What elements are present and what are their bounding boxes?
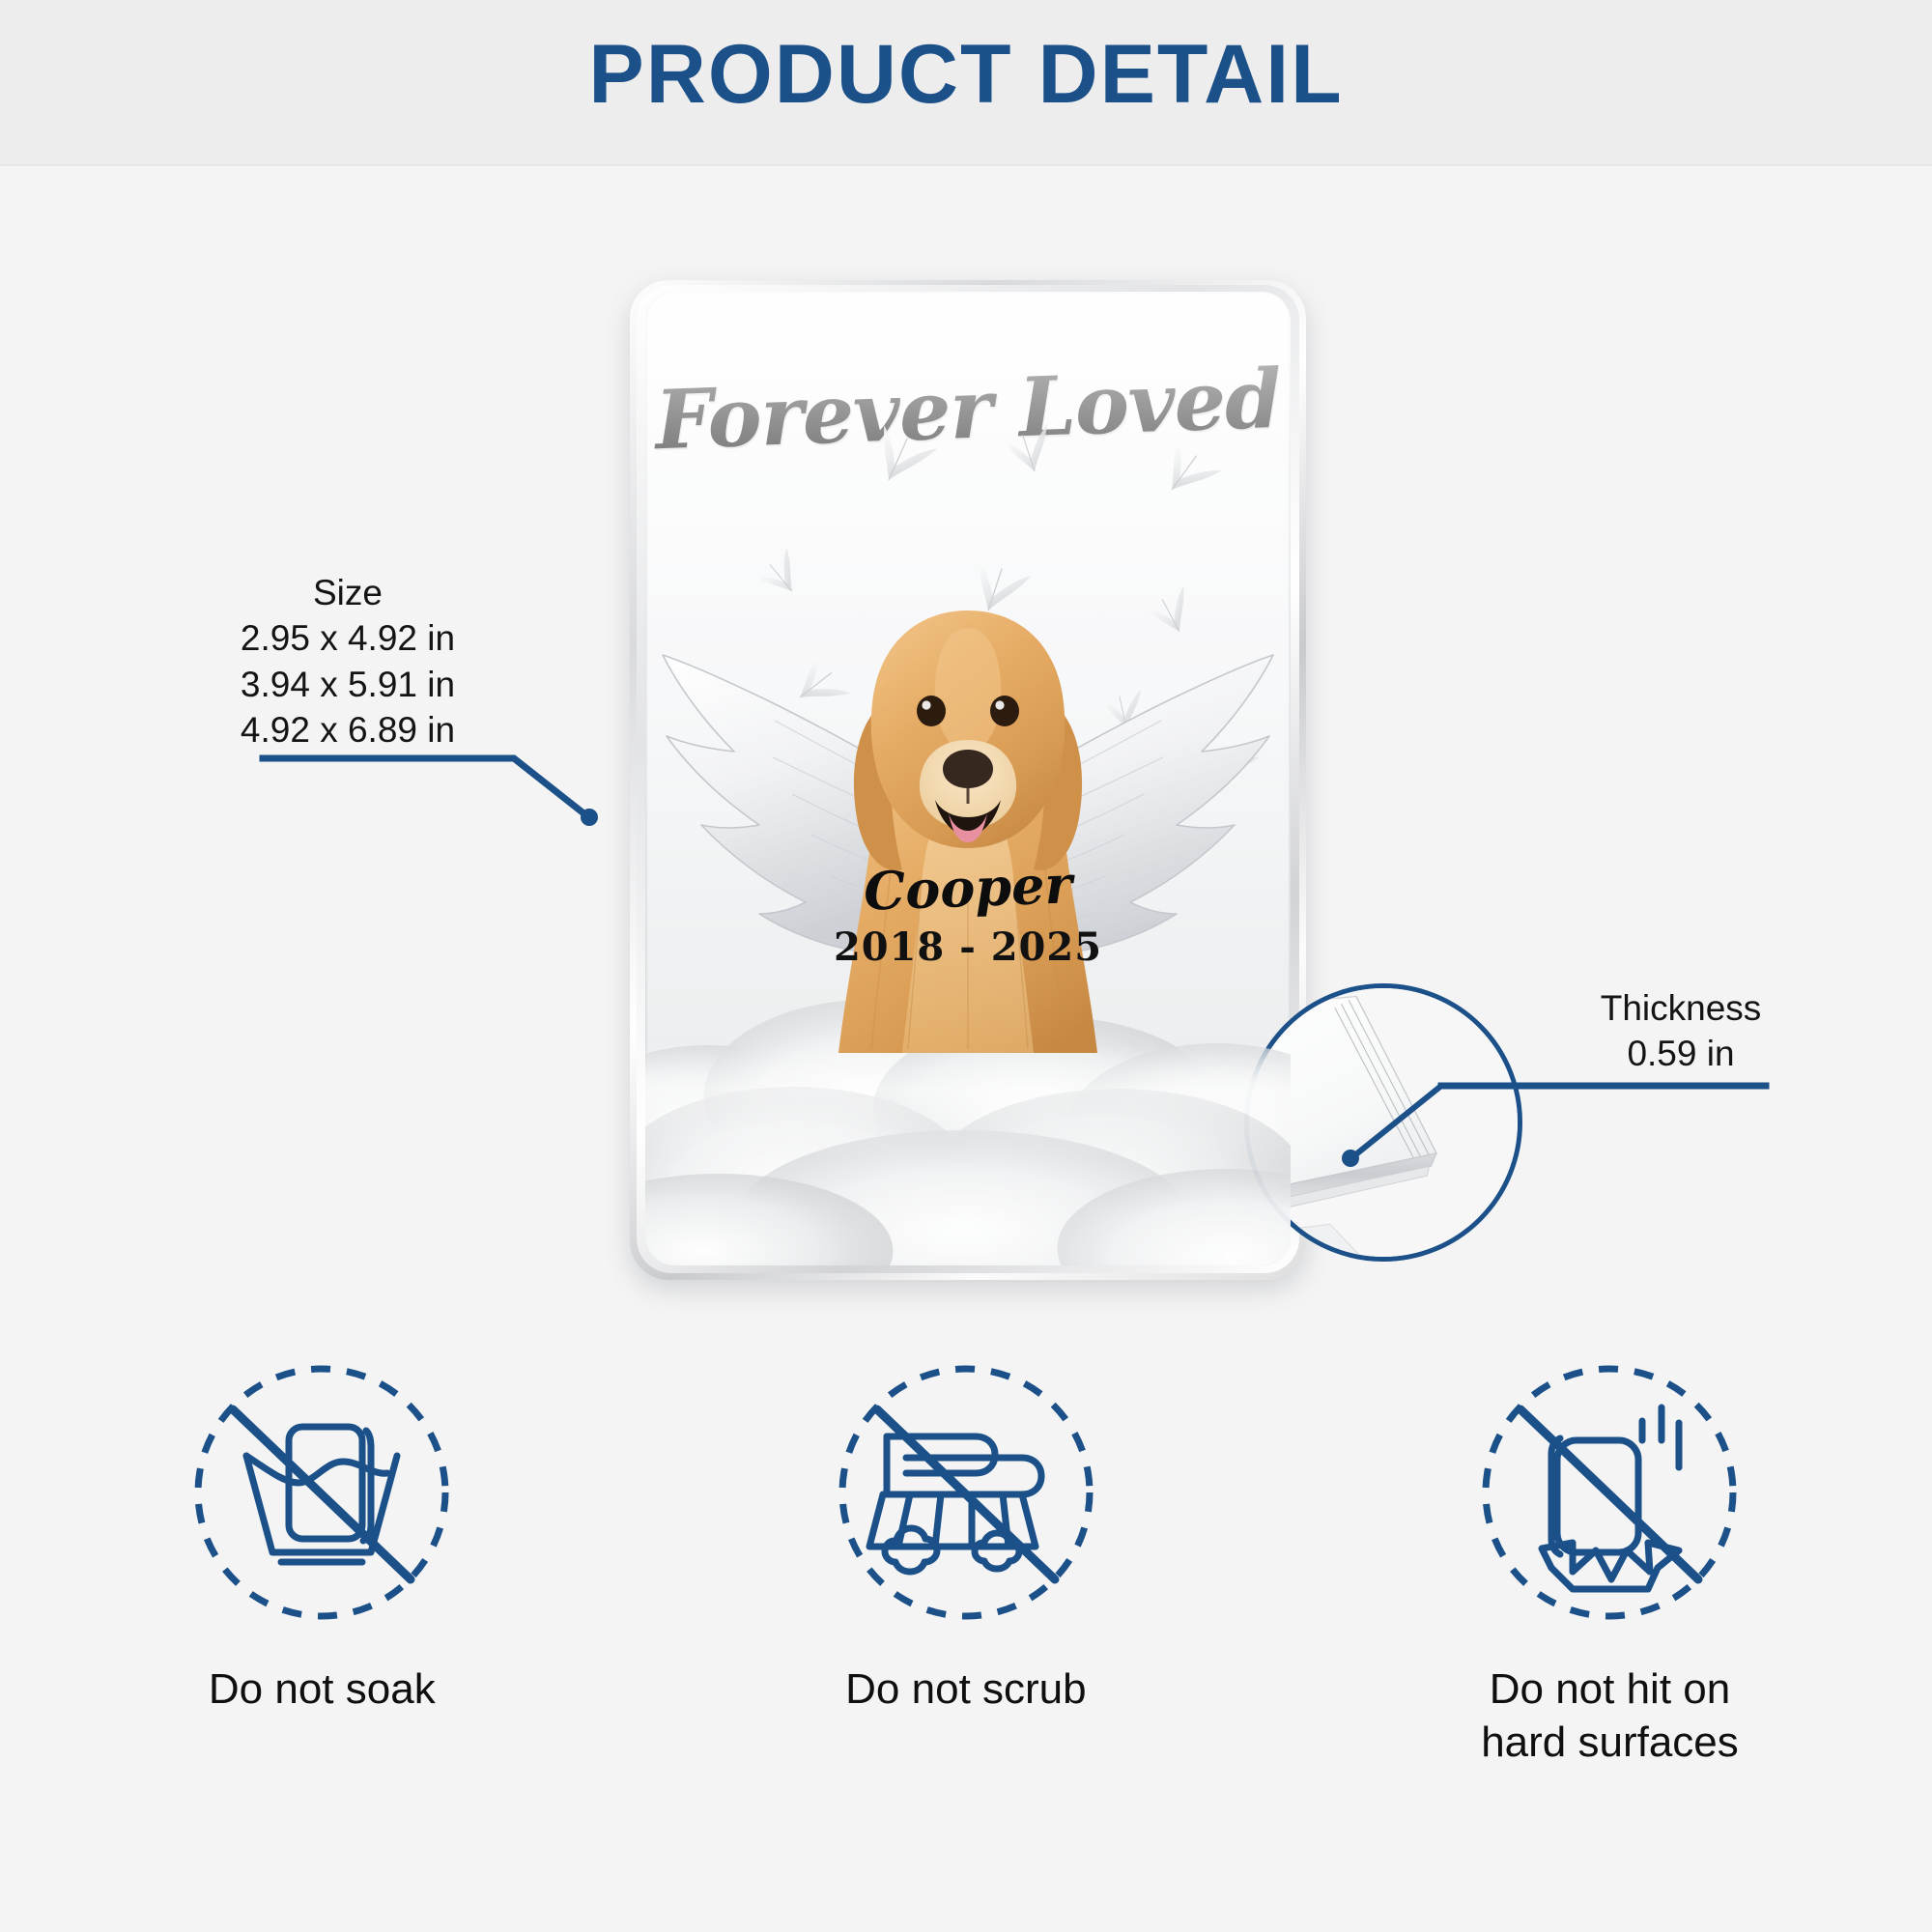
thickness-callout: Thickness 0.59 in	[1536, 985, 1826, 1077]
plaque-face: Forever Loved	[645, 292, 1291, 1265]
no-impact-icon	[1464, 1348, 1754, 1637]
thickness-value: 0.59 in	[1536, 1031, 1826, 1076]
care-instructions-row: Do not soak	[0, 1348, 1932, 1770]
no-scrub-icon	[821, 1348, 1111, 1637]
size-callout: Size 2.95 x 4.92 in 3.94 x 5.91 in 4.92 …	[193, 570, 502, 753]
care-label-no-impact: Do not hit onhard surfaces	[1481, 1662, 1739, 1770]
product-detail-page: PRODUCT DETAIL	[0, 0, 1932, 1932]
page-title: PRODUCT DETAIL	[0, 29, 1932, 121]
thickness-label: Thickness	[1536, 985, 1826, 1031]
pet-angel-artwork	[649, 551, 1287, 1053]
no-soak-icon	[177, 1348, 467, 1637]
dog-head	[871, 611, 1065, 848]
size-option-3: 4.92 x 6.89 in	[193, 707, 502, 753]
care-label-no-impact-line1: Do not hit onhard surfaces	[1481, 1665, 1739, 1766]
size-option-1: 2.95 x 4.92 in	[193, 615, 502, 661]
care-label-no-scrub: Do not scrub	[845, 1662, 1086, 1716]
care-item-no-impact: Do not hit onhard surfaces	[1288, 1348, 1932, 1770]
size-option-2: 3.94 x 5.91 in	[193, 662, 502, 707]
size-label: Size	[193, 570, 502, 615]
care-item-no-scrub: Do not scrub	[644, 1348, 1289, 1770]
care-label-no-soak: Do not soak	[209, 1662, 436, 1716]
product-plaque: Forever Loved	[630, 280, 1306, 1280]
size-leader-endpoint	[581, 809, 598, 826]
size-leader-line	[263, 758, 587, 816]
pet-years: 2018 - 2025	[645, 924, 1291, 970]
care-item-no-soak: Do not soak	[0, 1348, 644, 1770]
